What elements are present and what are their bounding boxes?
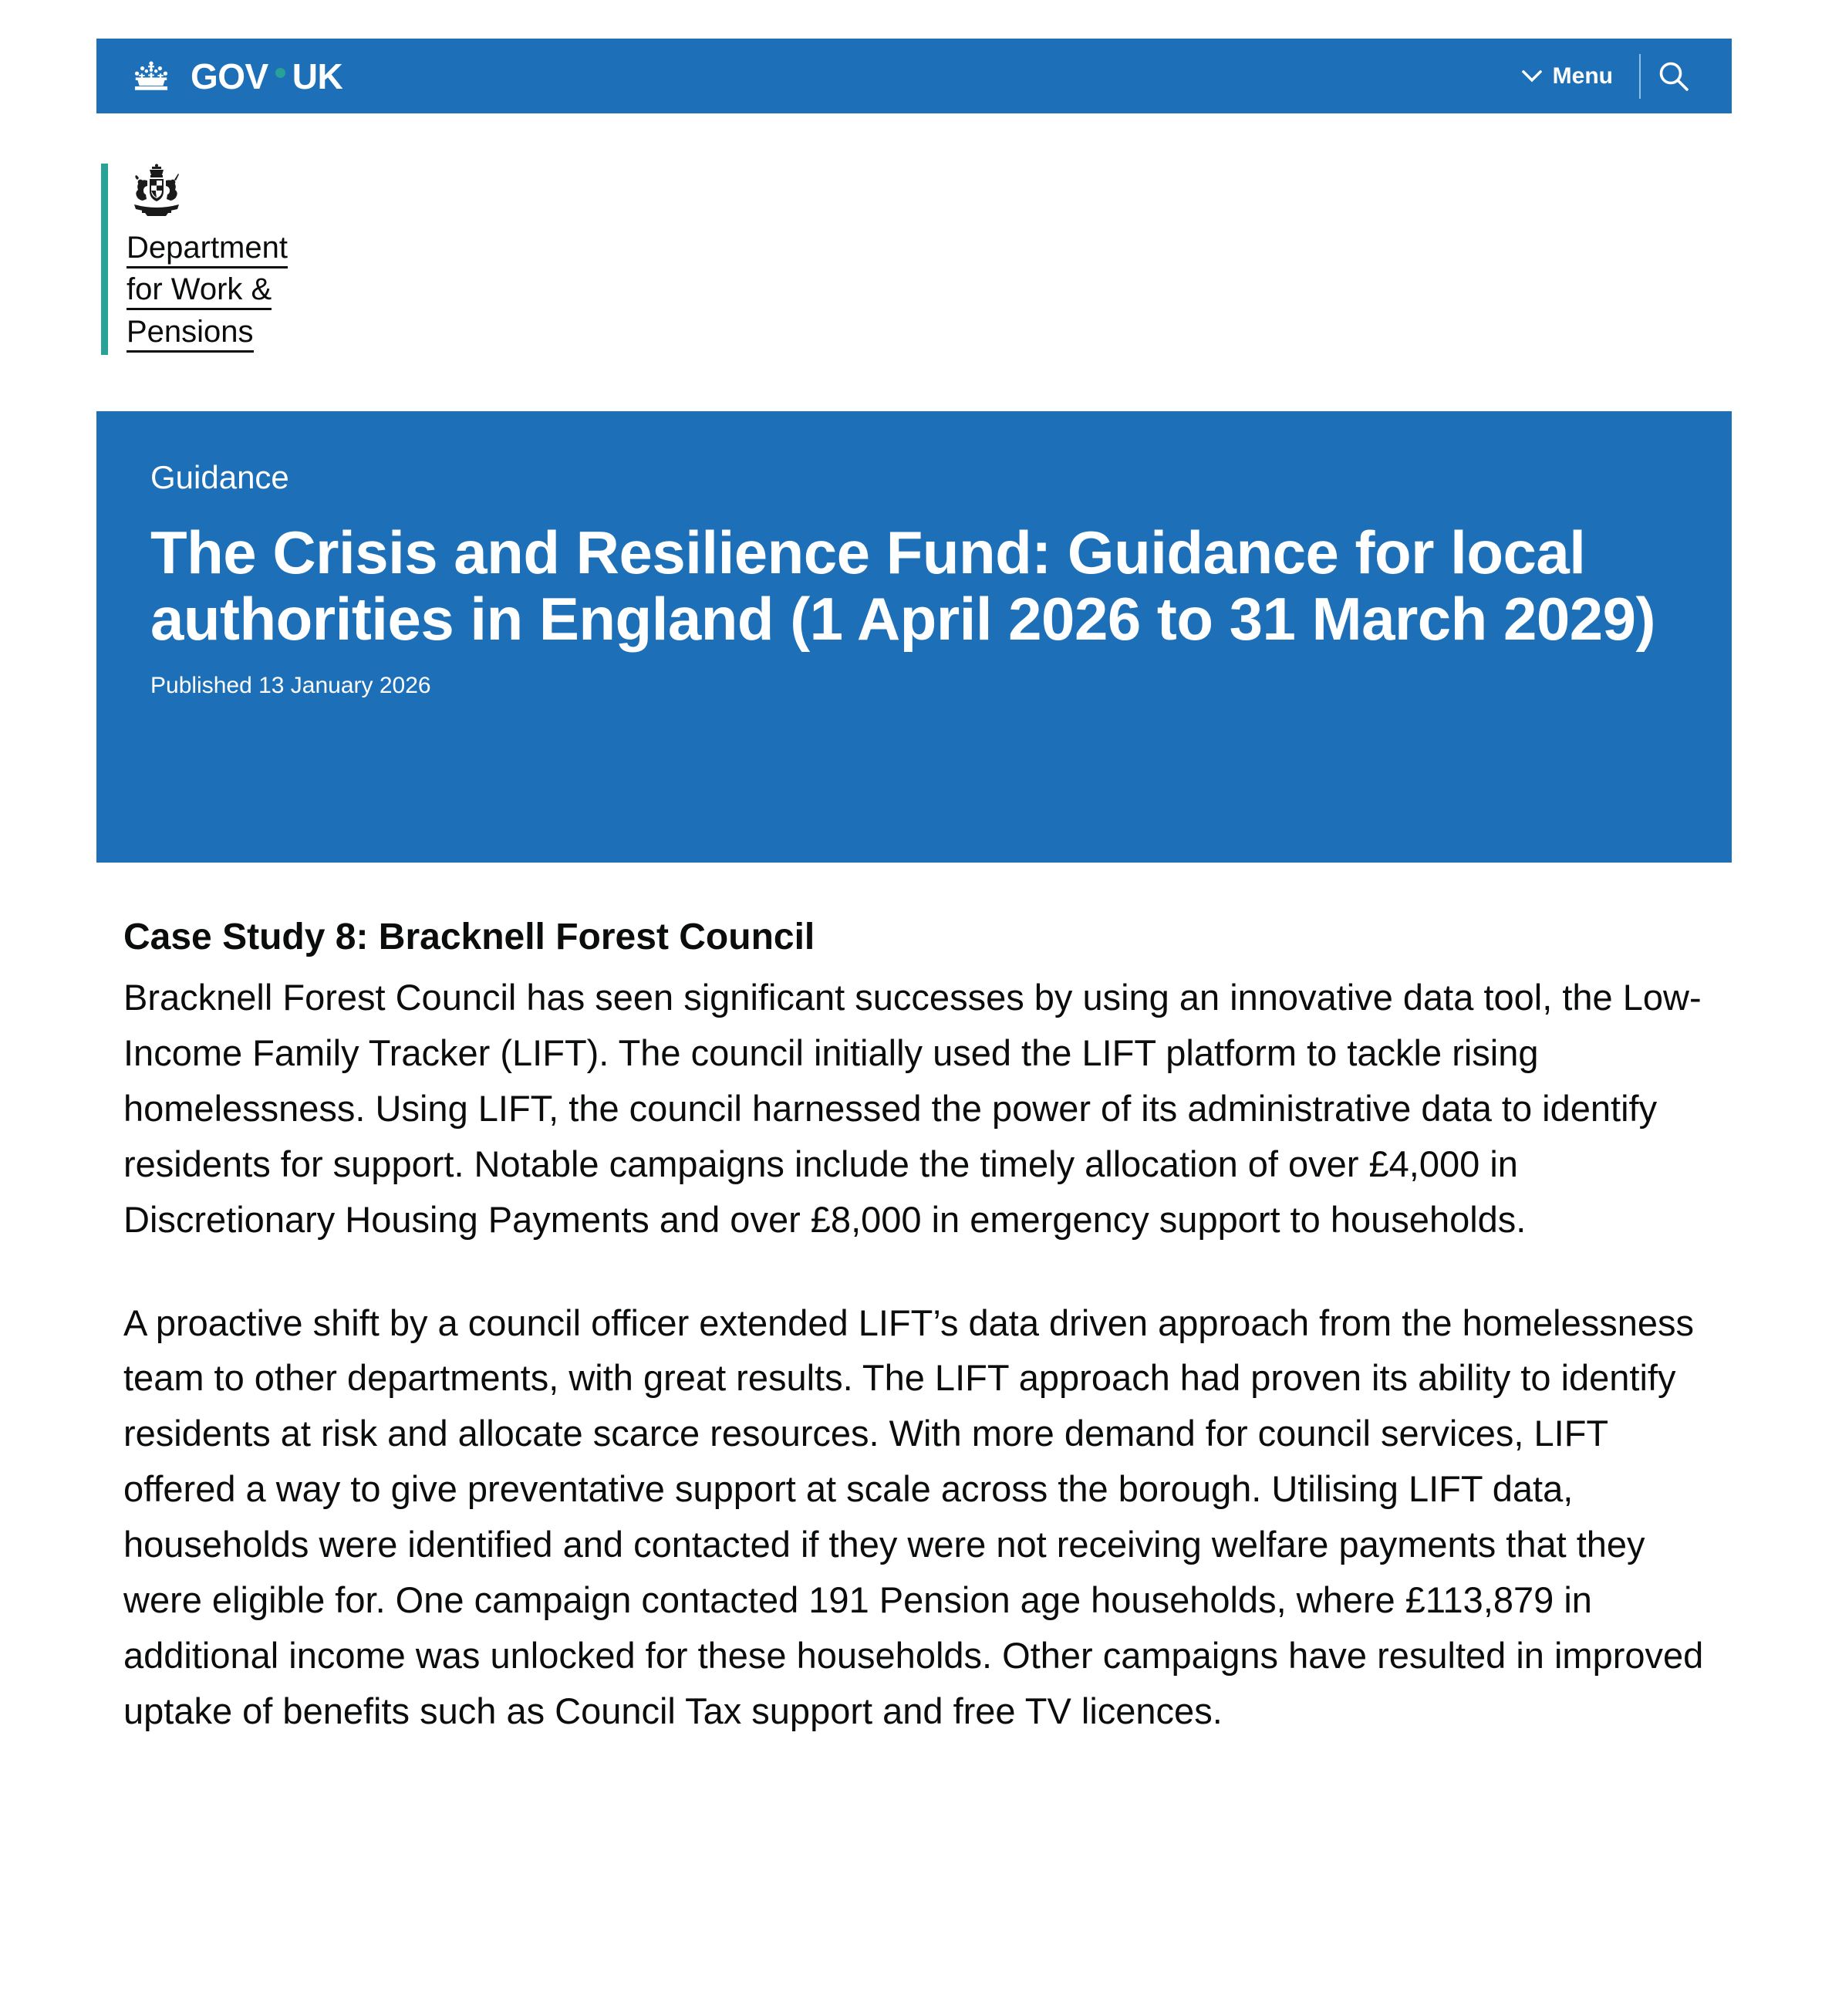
document-type-label: Guidance: [150, 461, 1678, 494]
govuk-header: GOV UK Menu: [96, 39, 1732, 113]
search-button[interactable]: [1641, 39, 1707, 113]
menu-button[interactable]: Menu: [1522, 63, 1639, 89]
document-title-banner: Guidance The Crisis and Resilience Fund:…: [96, 411, 1732, 863]
header-actions: Menu: [1522, 39, 1707, 113]
case-study-paragraph-1: Bracknell Forest Council has seen signif…: [123, 970, 1720, 1248]
menu-button-label: Menu: [1553, 63, 1613, 89]
case-study-heading: Case Study 8: Bracknell Forest Council: [123, 914, 1720, 961]
crown-icon: [129, 59, 174, 94]
govuk-wordmark-dot: [275, 68, 285, 78]
govuk-logo-link[interactable]: GOV UK: [129, 59, 342, 94]
organisation-name: Department for Work & Pensions: [127, 227, 288, 353]
page-root: GOV UK Menu: [0, 0, 1832, 2016]
search-icon: [1658, 60, 1690, 93]
chevron-down-icon: [1522, 70, 1542, 83]
case-study-paragraph-2: A proactive shift by a council officer e…: [123, 1295, 1720, 1739]
document-body: Case Study 8: Bracknell Forest Council B…: [123, 914, 1720, 1739]
organisation-name-line-1: Department: [127, 231, 288, 268]
organisation-logo[interactable]: Department for Work & Pensions: [101, 164, 288, 355]
published-date: Published 13 January 2026: [150, 674, 1678, 697]
govuk-wordmark-gov: GOV: [191, 59, 268, 94]
page-title: The Crisis and Resilience Fund: Guidance…: [150, 520, 1678, 653]
organisation-name-line-2: for Work &: [127, 272, 272, 310]
govuk-wordmark-uk: UK: [292, 59, 342, 94]
organisation-name-line-3: Pensions: [127, 315, 254, 353]
govuk-wordmark: GOV UK: [191, 59, 342, 94]
royal-coat-of-arms-icon: [127, 164, 187, 219]
